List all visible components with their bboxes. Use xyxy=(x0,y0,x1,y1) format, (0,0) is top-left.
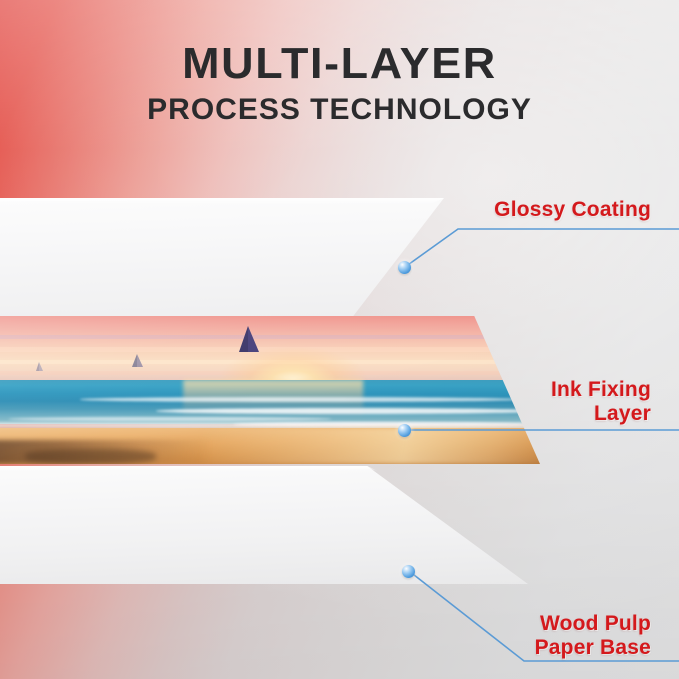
layer-paper-base[interactable] xyxy=(0,466,528,584)
layer-ink-fixing[interactable] xyxy=(0,316,540,464)
photo-sky-band xyxy=(0,335,540,339)
photo-sand-shadow xyxy=(25,449,157,464)
photo-wet-sand-glow xyxy=(200,428,540,464)
multi-layer-infographic: MULTI-LAYER PROCESS TECHNOLOGY xyxy=(0,0,679,679)
photo-wave xyxy=(8,417,331,421)
title-main: MULTI-LAYER xyxy=(0,42,679,86)
beach-sunset-photo xyxy=(0,316,540,464)
title-subtitle: PROCESS TECHNOLOGY xyxy=(0,95,679,125)
page-title: MULTI-LAYER PROCESS TECHNOLOGY xyxy=(0,42,679,125)
photo-wave xyxy=(156,408,540,414)
